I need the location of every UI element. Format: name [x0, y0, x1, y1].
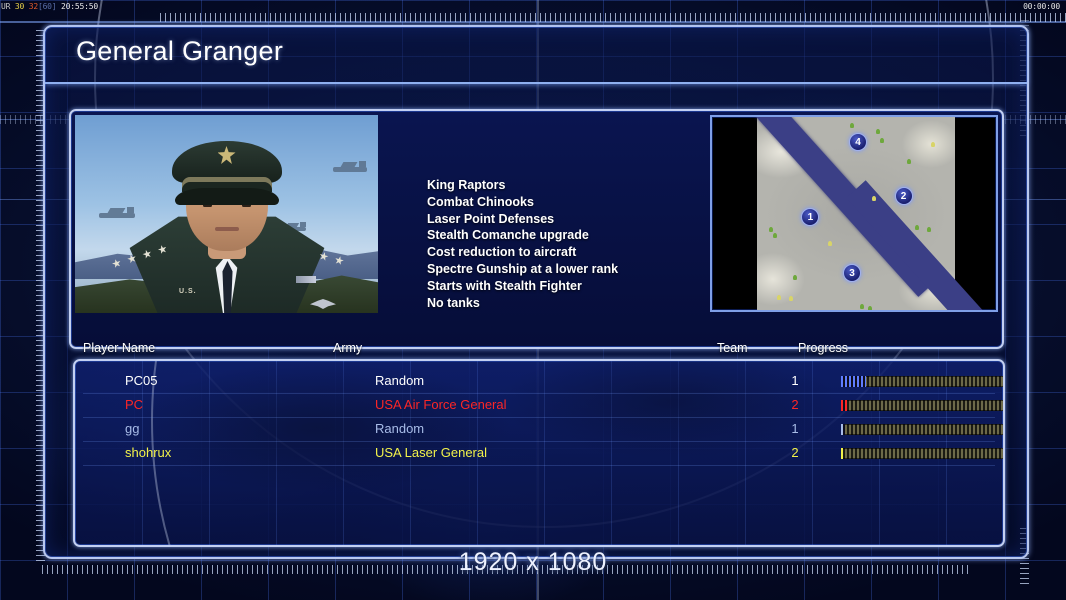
column-header-team: Team	[717, 341, 748, 355]
ability-line: Laser Point Defenses	[427, 211, 618, 228]
ability-line: Starts with Stealth Fighter	[427, 278, 618, 295]
player-army: Random	[375, 373, 424, 388]
fps-value: 30	[15, 2, 24, 11]
start-position-marker: 4	[849, 133, 867, 151]
portrait-cap-brim	[175, 188, 279, 205]
progress-bar	[841, 376, 1005, 387]
progress-bar	[841, 400, 1005, 411]
column-header-progress: Progress	[798, 341, 848, 355]
map-foliage-marker	[880, 138, 884, 143]
map-foliage-marker	[876, 129, 880, 134]
map-foliage-marker	[793, 275, 797, 280]
fps-label: UR	[1, 2, 10, 11]
loading-screen-frame: General Granger U.S.	[43, 25, 1029, 559]
game-time: 20:55:50	[61, 2, 98, 11]
general-portrait: U.S.	[75, 115, 378, 313]
player-table-header: Player Name Army Team Progress	[83, 341, 1013, 363]
map-foliage-marker	[872, 196, 876, 201]
table-row[interactable]: ggRandom1	[75, 418, 1003, 442]
map-foliage-marker	[769, 227, 773, 232]
column-header-player-name: Player Name	[83, 341, 155, 355]
page-title: General Granger	[76, 36, 283, 67]
map-foliage-marker	[777, 295, 781, 300]
player-team: 1	[787, 373, 803, 388]
player-army: USA Air Force General	[375, 397, 507, 412]
mission-clock: 00:00:00	[1023, 0, 1060, 13]
player-name: gg	[125, 421, 139, 436]
ability-line: Combat Chinooks	[427, 194, 618, 211]
map-foliage-marker	[828, 241, 832, 246]
player-team: 1	[787, 421, 803, 436]
player-army: Random	[375, 421, 424, 436]
progress-bar-fill	[841, 400, 847, 411]
player-team: 2	[787, 397, 803, 412]
table-row[interactable]: PC05Random1	[75, 370, 1003, 394]
progress-bar-fill	[841, 448, 843, 459]
player-army: USA Laser General	[375, 445, 487, 460]
map-foliage-marker	[850, 123, 854, 128]
player-list-panel: PC05Random1PCUSA Air Force General2ggRan…	[73, 359, 1005, 547]
general-abilities-list: King RaptorsCombat ChinooksLaser Point D…	[427, 177, 618, 311]
progress-bar	[841, 424, 1005, 435]
fps-counter: UR 30 32[60] 20:55:50	[1, 0, 98, 13]
player-name: shohrux	[125, 445, 171, 460]
progress-bar	[841, 448, 1005, 459]
map-foliage-marker	[789, 296, 793, 301]
frame-value: 32	[29, 2, 38, 11]
player-name: PC	[125, 397, 143, 412]
ability-line: Cost reduction to aircraft	[427, 244, 618, 261]
progress-bar-fill	[841, 376, 866, 387]
player-name: PC05	[125, 373, 158, 388]
map-foliage-marker	[907, 159, 911, 164]
table-row[interactable]: shohruxUSA Laser General2	[75, 442, 1003, 466]
map-foliage-marker	[868, 306, 872, 311]
map-preview: 1234	[710, 115, 998, 312]
map-foliage-marker	[915, 225, 919, 230]
aircraft-silhouette-1	[99, 213, 135, 218]
map-foliage-marker	[931, 142, 935, 147]
river-1	[744, 115, 937, 297]
start-position-marker: 2	[895, 187, 913, 205]
portrait-face	[186, 157, 268, 251]
start-position-marker: 1	[801, 208, 819, 226]
row-separator	[83, 465, 995, 466]
column-header-army: Army	[333, 341, 362, 355]
ability-line: No tanks	[427, 295, 618, 312]
portrait-ribbon	[296, 276, 316, 283]
debug-status-bar: UR 30 32[60] 20:55:50 00:00:00	[0, 0, 1066, 13]
start-position-marker: 3	[843, 264, 861, 282]
aircraft-silhouette-2	[333, 167, 367, 172]
ability-line: King Raptors	[427, 177, 618, 194]
title-bar: General Granger	[45, 27, 1027, 84]
player-team: 2	[787, 445, 803, 460]
ability-line: Stealth Comanche upgrade	[427, 227, 618, 244]
ability-line: Spectre Gunship at a lower rank	[427, 261, 618, 278]
general-info-panel: U.S. King RaptorsCombat ChinooksLaser Po…	[69, 109, 1004, 349]
table-row[interactable]: PCUSA Air Force General2	[75, 394, 1003, 418]
progress-bar-fill	[841, 424, 845, 435]
map-foliage-marker	[860, 304, 864, 309]
portrait-mouth	[215, 227, 239, 231]
map-foliage-marker	[773, 233, 777, 238]
star-icon	[318, 251, 329, 262]
portrait-us-insignia: U.S.	[179, 288, 197, 295]
frame-bracket: [60]	[38, 2, 56, 11]
map-foliage-marker	[927, 227, 931, 232]
resolution-overlay: 1920 x 1080	[0, 548, 1066, 577]
map-terrain: 1234	[757, 117, 955, 310]
crosshair-horizontal-line-top	[0, 21, 1066, 23]
